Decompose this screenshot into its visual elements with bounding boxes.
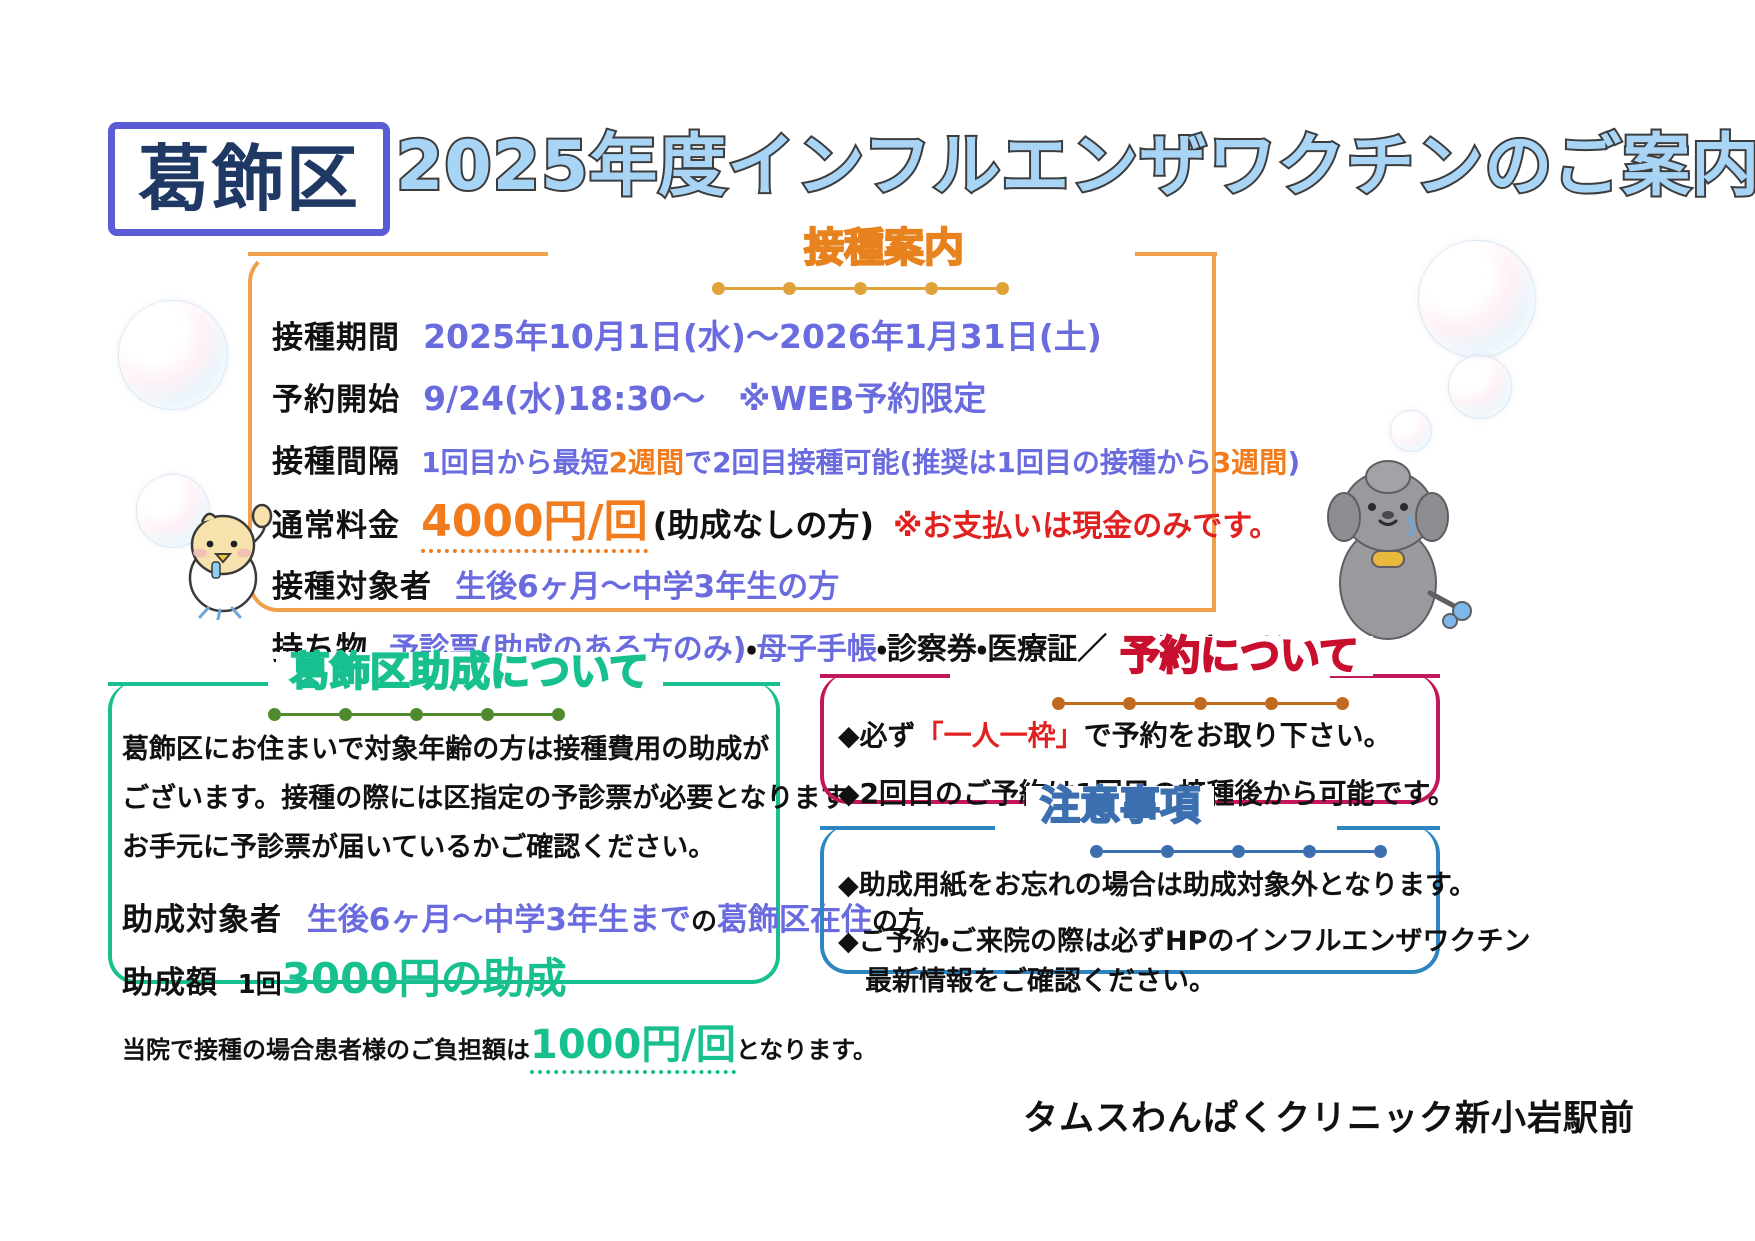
reservation-item: ◆必ず「一人一枠」で予約をお取り下さい。 [838, 722, 1392, 750]
subsidy-amount-row: 助成額 1回3000円の助成 [122, 958, 567, 1000]
interval-text-b: で2回目接種可能(推奨は1回目の接種から [684, 446, 1212, 479]
panel-border-segment [820, 826, 995, 830]
page-title: 2025年度インフルエンザワクチンのご案内 [396, 126, 1755, 208]
subsidy-footnote-prefix: 当院で接種の場合患者様のご負担額は [122, 1036, 530, 1064]
info-row-price: 通常料金 4000円/回 (助成なしの方) ※お支払いは現金のみです。 [272, 500, 1279, 544]
clinic-name: タムスわんぱくクリニック新小岩駅前 [1023, 1090, 1635, 1141]
panel-border-segment [820, 674, 950, 678]
info-row-reservation-start-label: 予約開始 [272, 382, 400, 418]
info-row-reservation-start: 予約開始 9/24(水)18:30～ ※WEB予約限定 [272, 382, 986, 416]
price-note: (助成なしの方) [653, 506, 874, 544]
info-row-target-label: 接種対象者 [272, 569, 432, 605]
subsidy-paragraph-line: お手元に予診票が届いているかご確認ください。 [122, 834, 715, 861]
bubble-decoration [1448, 355, 1512, 419]
notice-item: ◆助成用紙をお忘れの場合は助成対象外となります。 [838, 872, 1476, 899]
info-row-target-value: 生後6ヶ月～中学3年生の方 [455, 569, 839, 605]
bubble-decoration [1418, 240, 1536, 358]
chick-mascot-icon [168, 500, 278, 620]
bubble-decoration [118, 300, 228, 410]
info-row-interval-label: 接種間隔 [272, 444, 400, 480]
subsidy-eligibility-label: 助成対象者 [122, 902, 282, 938]
info-row-interval: 接種間隔 1回目から最短2週間で2回目接種可能(推奨は1回目の接種から3週間) [272, 447, 1300, 478]
notice-item: 最新情報をご確認ください。 [838, 968, 1216, 995]
info-section-title: 接種案内 [790, 228, 978, 268]
info-row-target: 接種対象者 生後6ヶ月～中学3年生の方 [272, 572, 839, 603]
reservation-bullet: ◆ [838, 719, 860, 752]
subsidy-section-title: 葛飾区助成について [276, 652, 663, 692]
info-row-period-label: 接種期間 [272, 320, 400, 356]
subsidy-amount-prefix: 1回 [238, 970, 282, 1000]
reservation-text-b: で予約をお取り下さい。 [1084, 719, 1392, 752]
panel-border-segment [108, 682, 268, 686]
reservation-title-dot-divider [1052, 697, 1349, 710]
ward-badge-label: 葛飾区 [138, 143, 360, 215]
subsidy-title-dot-divider [268, 708, 565, 721]
reservation-bullet: ◆ [838, 777, 860, 810]
subsidy-amount-label: 助成額 [122, 965, 218, 1001]
notice-title-dot-divider [1090, 845, 1387, 858]
panel-border-segment [1212, 252, 1216, 612]
panel-border-segment [1135, 252, 1217, 256]
info-row-period: 接種期間 2025年10月1日(水)～2026年1月31日(土) [272, 320, 1102, 354]
info-row-period-value: 2025年10月1日(水)～2026年1月31日(土) [423, 317, 1102, 356]
subsidy-paragraph-line: 葛飾区にお住まいで対象年齢の方は接種費用の助成が [122, 736, 769, 763]
subsidy-footnote-value: 1000円/回 [530, 1022, 736, 1074]
subsidy-footnote-row: 当院で接種の場合患者様のご負担額は1000円/回となります。 [122, 1025, 877, 1065]
subsidy-eligibility-sep: の [691, 907, 717, 937]
price-value: 4000円/回 [421, 496, 648, 553]
subsidy-eligibility-age: 生後6ヶ月～中学3年生まで [307, 902, 691, 938]
dog-mascot-icon [1300, 455, 1485, 650]
poster-canvas: 葛飾区 2025年度インフルエンザワクチンのご案内 接種案内 接種期間 2025… [0, 0, 1755, 1241]
bubble-decoration [1390, 410, 1432, 452]
subsidy-eligibility-row: 助成対象者 生後6ヶ月～中学3年生までの葛飾区在住の方 [122, 905, 924, 936]
info-row-price-label: 通常料金 [272, 508, 400, 544]
interval-text-c: ) [1287, 446, 1300, 479]
price-warning: ※お支払いは現金のみです。 [893, 509, 1279, 544]
subsidy-footnote-suffix: となります。 [736, 1036, 877, 1064]
panel-border-segment [1337, 826, 1440, 830]
info-title-dot-divider [712, 282, 1009, 295]
interval-weeks-min: 2週間 [609, 446, 684, 479]
reservation-text-a: 必ず [860, 719, 916, 752]
interval-text-a: 1回目から最短 [421, 446, 608, 479]
bring-sep-1: ・ [747, 632, 757, 667]
ward-badge: 葛飾区 [108, 122, 390, 236]
panel-border-segment [650, 682, 780, 686]
reservation-section-title: 予約について [1106, 636, 1373, 676]
vaccination-info-panel [248, 252, 1216, 612]
reservation-highlight: 「一人一枠」 [916, 719, 1084, 752]
subsidy-amount-value: 3000円の助成 [282, 954, 567, 1003]
bring-item-boshi: 母子手帳 [757, 632, 877, 667]
subsidy-paragraph-line: ございます。接種の際には区指定の予診票が必要となります [122, 785, 848, 812]
notice-item: ◆ご予約・ご来院の際は必ずHPのインフルエンザワクチン [838, 928, 1531, 955]
info-row-reservation-start-value: 9/24(水)18:30～ ※WEB予約限定 [423, 379, 986, 418]
notice-section-title: 注意事項 [1026, 786, 1214, 826]
panel-border-segment [248, 252, 548, 256]
interval-weeks-rec: 3週間 [1212, 446, 1287, 479]
